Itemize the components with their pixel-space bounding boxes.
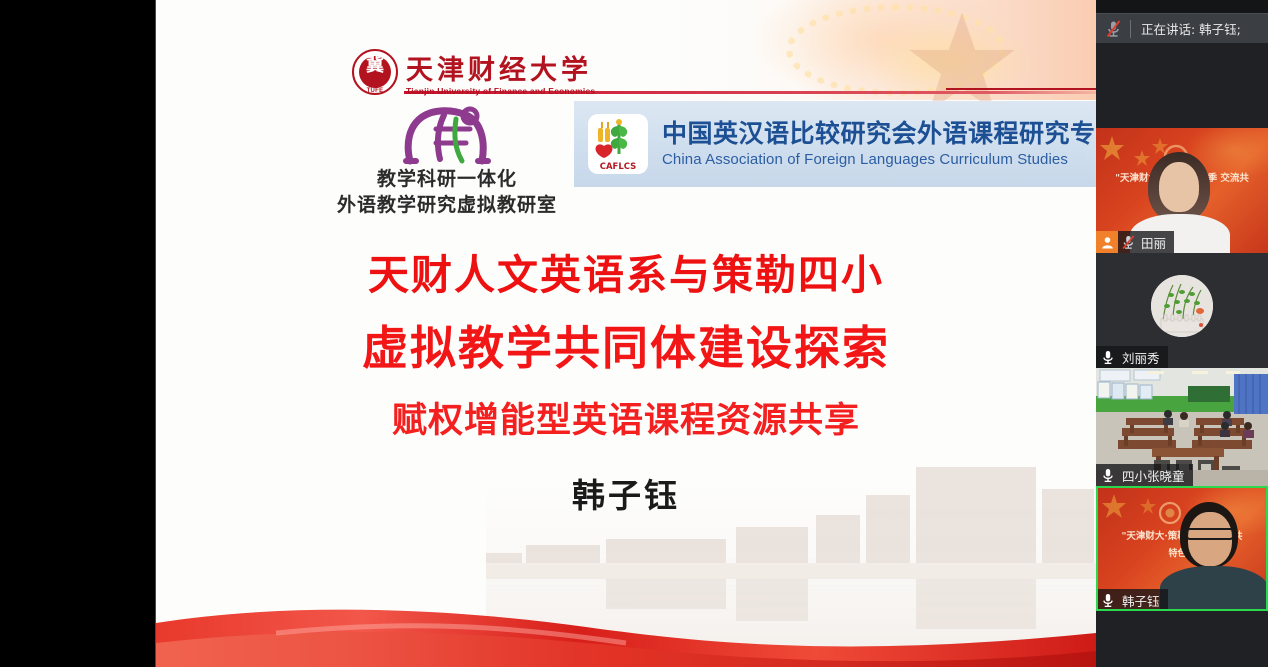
virtual-lab-line1: 教学科研一体化	[322, 166, 572, 192]
university-seal-icon: 冀 TUFE	[352, 49, 398, 95]
microphone-icon[interactable]	[1096, 346, 1120, 368]
host-person-icon	[1096, 231, 1118, 253]
active-speaker-label: 正在讲话: 韩子钰;	[1131, 19, 1268, 38]
virtual-lab-line2: 外语教学研究虚拟教研室	[322, 192, 572, 218]
active-speaker-bar[interactable]: 正在讲话: 韩子钰;	[1096, 13, 1268, 43]
tile-participant-name: 田丽	[1139, 233, 1166, 252]
university-name-cn: 天津财经大学	[406, 57, 595, 84]
video-tile-tianli[interactable]: "天津财大·策勒四小" 季 交流共	[1096, 128, 1268, 253]
caflcs-name-en: China Association of Foreign Languages C…	[662, 152, 1096, 169]
tile-badge: 四小张晓童	[1096, 464, 1193, 486]
flag-watermark	[666, 0, 1096, 100]
video-tile-sixiaozhangxiaotong[interactable]: 四小张晓童	[1096, 368, 1268, 486]
presenter-name: 韩子钰	[156, 469, 1096, 517]
caflcs-name-cn: 中国英汉语比较研究会外语课程研究专业委员会	[662, 120, 1096, 148]
university-logo: 冀 TUFE 天津财经大学 Tianjin University of Fina…	[352, 49, 595, 95]
title-line-2: 虚拟教学共同体建设探索	[156, 315, 1096, 382]
microphone-icon[interactable]	[1096, 464, 1120, 486]
caflcs-banner: CAFLCS 中国英汉语比较研究会外语课程研究专业委员会 China Assoc…	[574, 101, 1096, 187]
red-silk-ribbon	[156, 571, 1096, 667]
shared-screen-slide[interactable]: 冀 TUFE 天津财经大学 Tianjin University of Fina…	[156, 0, 1096, 667]
plant-photo-avatar	[1151, 275, 1213, 337]
tile-badge: 刘丽秀	[1096, 346, 1168, 368]
seal-abbr: TUFE	[354, 88, 396, 94]
banner-highlight	[1069, 101, 1096, 187]
header-divider-accent	[946, 88, 1096, 90]
tile-badge: 韩子钰	[1096, 589, 1168, 611]
meeting-window: 冀 TUFE 天津财经大学 Tianjin University of Fina…	[0, 0, 1268, 667]
title-line-3: 赋权增能型英语课程资源共享	[156, 398, 1096, 444]
microphone-muted-icon[interactable]	[1118, 231, 1139, 253]
slide-titles: 天财人文英语系与策勒四小 虚拟教学共同体建设探索 赋权增能型英语课程资源共享 韩…	[156, 250, 1096, 517]
tile-participant-name: 韩子钰	[1120, 591, 1160, 610]
title-line-1: 天财人文英语系与策勒四小	[156, 250, 1096, 301]
left-letterbox-band	[0, 0, 156, 667]
tile-participant-name: 刘丽秀	[1120, 348, 1160, 367]
video-tile-liulixiu[interactable]: 刘丽秀	[1096, 253, 1268, 368]
video-tile-hanziyu[interactable]: "天津财大·策勒四小" 交流共 特色党	[1096, 486, 1268, 611]
virtual-lab-purple-logo	[322, 104, 572, 166]
seal-glyph: 冀	[354, 57, 396, 75]
video-tile-list: "天津财大·策勒四小" 季 交流共	[1096, 43, 1268, 667]
tile-participant-name: 四小张晓童	[1120, 466, 1185, 485]
tile-badge: 田丽	[1096, 231, 1174, 253]
panel-top-gap	[1096, 0, 1268, 13]
university-name-en: Tianjin University of Finance and Econom…	[406, 87, 595, 96]
svg-text:CAFLCS: CAFLCS	[600, 162, 637, 172]
microphone-icon[interactable]	[1096, 589, 1120, 611]
virtual-lab-block: 教学科研一体化 外语教学研究虚拟教研室	[322, 104, 572, 232]
microphone-muted-icon	[1096, 20, 1130, 38]
participants-panel: 正在讲话: 韩子钰; "天津财大·策勒四小" 季 交流共	[1096, 0, 1268, 667]
caflcs-logo: CAFLCS	[588, 114, 648, 174]
